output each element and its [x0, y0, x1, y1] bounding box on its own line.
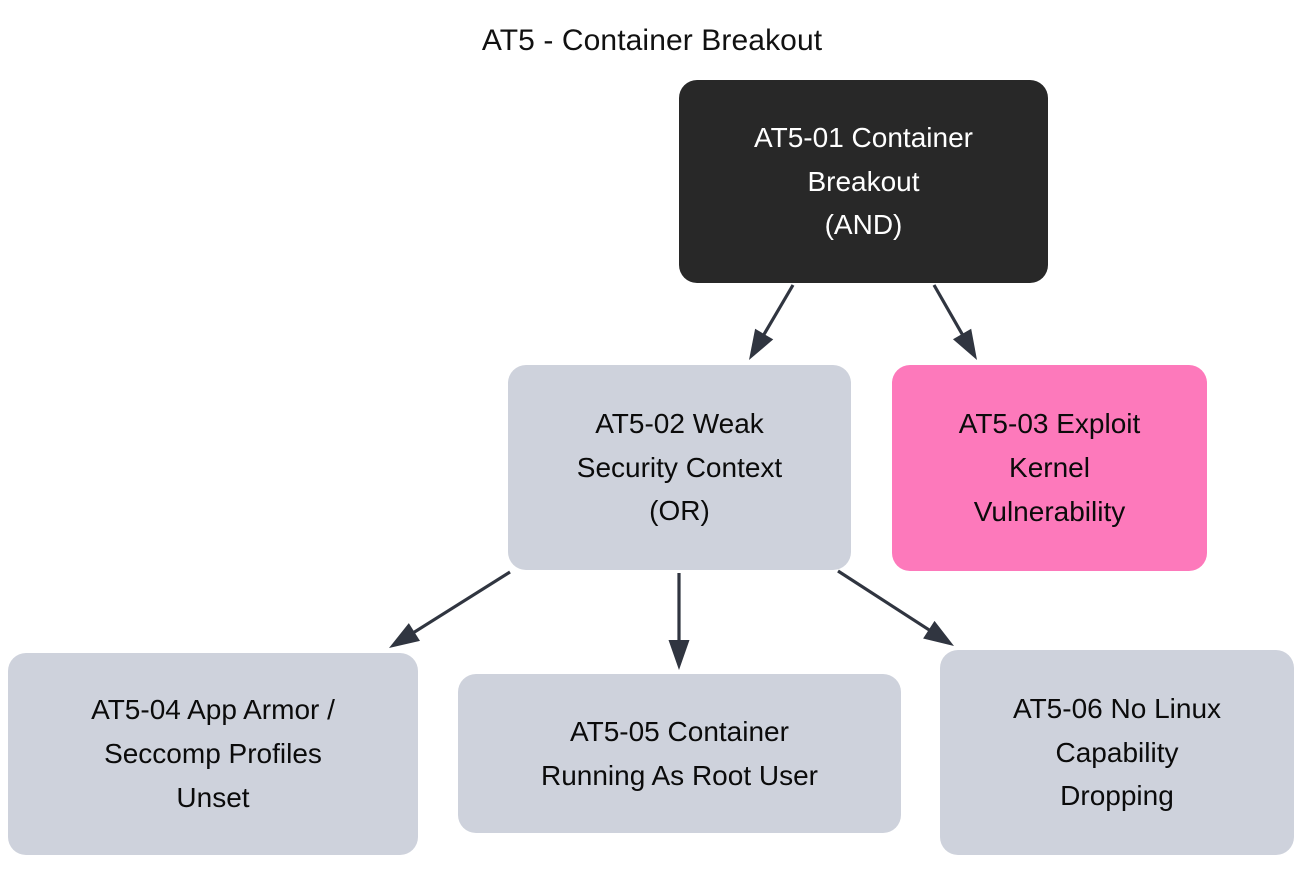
- edge-02-05: [669, 573, 690, 670]
- edge-arrowhead: [389, 623, 420, 648]
- edge-line: [760, 285, 793, 341]
- node-label: AT5-05 Container Running As Root User: [541, 710, 818, 798]
- attack-tree-canvas: AT5 - Container Breakout AT5-01 Containe…: [0, 0, 1304, 870]
- edge-line: [838, 571, 936, 634]
- edge-arrowhead: [669, 640, 690, 670]
- node-label: AT5-01 Container Breakout (AND): [754, 116, 973, 248]
- node-label: AT5-03 Exploit Kernel Vulnerability: [959, 402, 1141, 534]
- node-at5-05[interactable]: AT5-05 Container Running As Root User: [458, 674, 901, 833]
- node-label: AT5-02 Weak Security Context (OR): [577, 402, 782, 534]
- edge-02-06: [838, 571, 954, 646]
- edge-01-03: [934, 285, 977, 360]
- node-at5-02[interactable]: AT5-02 Weak Security Context (OR): [508, 365, 851, 570]
- node-at5-03[interactable]: AT5-03 Exploit Kernel Vulnerability: [892, 365, 1207, 571]
- node-label: AT5-04 App Armor / Seccomp Profiles Unse…: [91, 688, 335, 820]
- edge-arrowhead: [923, 621, 954, 646]
- edge-arrowhead: [749, 329, 773, 360]
- edge-01-02: [749, 285, 793, 360]
- edge-line: [408, 572, 510, 636]
- edge-arrowhead: [953, 329, 977, 360]
- diagram-title: AT5 - Container Breakout: [0, 24, 1304, 58]
- node-at5-01[interactable]: AT5-01 Container Breakout (AND): [679, 80, 1048, 283]
- node-label: AT5-06 No Linux Capability Dropping: [1013, 687, 1221, 819]
- edge-line: [934, 285, 966, 341]
- node-at5-06[interactable]: AT5-06 No Linux Capability Dropping: [940, 650, 1294, 855]
- edge-02-04: [389, 572, 510, 648]
- node-at5-04[interactable]: AT5-04 App Armor / Seccomp Profiles Unse…: [8, 653, 418, 855]
